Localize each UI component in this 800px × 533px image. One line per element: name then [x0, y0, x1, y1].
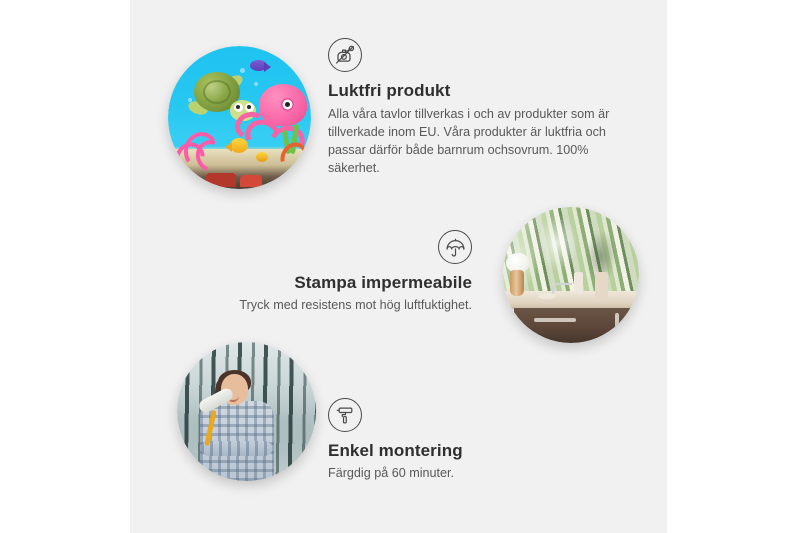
paint-roller-icon [328, 398, 362, 432]
bathroom-bottle [574, 272, 583, 294]
infographic-canvas: Luktfri produkt Alla våra tavlor tillver… [0, 0, 800, 533]
gold-vase [510, 270, 524, 296]
soap-dish [538, 293, 556, 299]
feature-waterproof: Stampa impermeabile Tryck med resistens … [210, 230, 472, 314]
ocean-scene [168, 46, 311, 189]
forest-scene [177, 342, 316, 481]
treasure-chest [240, 175, 262, 187]
turtle-eye [245, 103, 254, 112]
feature-title: Luktfri produkt [328, 81, 623, 101]
bubble-icon [254, 82, 258, 86]
bubble-icon [240, 68, 245, 73]
treasure-chest [206, 173, 236, 187]
fish-tail [225, 142, 232, 152]
feature-body: Färgdig på 60 minuter. [328, 464, 588, 482]
fish-yellow [230, 138, 248, 153]
fish-tail [264, 62, 271, 72]
crossed-arms [201, 441, 272, 456]
woman-figure [196, 370, 277, 481]
bathroom-scene [503, 207, 639, 343]
feature-body: Alla våra tavlor tillverkas i och av pro… [328, 105, 623, 178]
product-image-ocean-mural[interactable] [168, 46, 311, 189]
turtle-eye [234, 103, 243, 112]
feature-body: Tryck med resistens mot hög luftfuktighe… [210, 296, 472, 314]
content-panel: Luktfri produkt Alla våra tavlor tillver… [130, 0, 667, 533]
octopus-eye [281, 98, 294, 111]
product-image-forest-mural[interactable] [177, 342, 316, 481]
umbrella-icon [438, 230, 472, 264]
feature-easy-install: Enkel montering Färgdig på 60 minuter. [328, 398, 588, 482]
feature-title: Enkel montering [328, 441, 588, 461]
feature-odor-free: Luktfri produkt Alla våra tavlor tillver… [328, 38, 623, 178]
wooden-vanity-cabinet [514, 308, 639, 343]
faucet-icon [552, 283, 572, 294]
fish-yellow-small [256, 152, 268, 162]
no-fragrance-icon [328, 38, 362, 72]
feature-title: Stampa impermeabile [210, 273, 472, 293]
bathroom-bottle [595, 272, 608, 300]
product-image-bathroom-mural[interactable] [503, 207, 639, 343]
